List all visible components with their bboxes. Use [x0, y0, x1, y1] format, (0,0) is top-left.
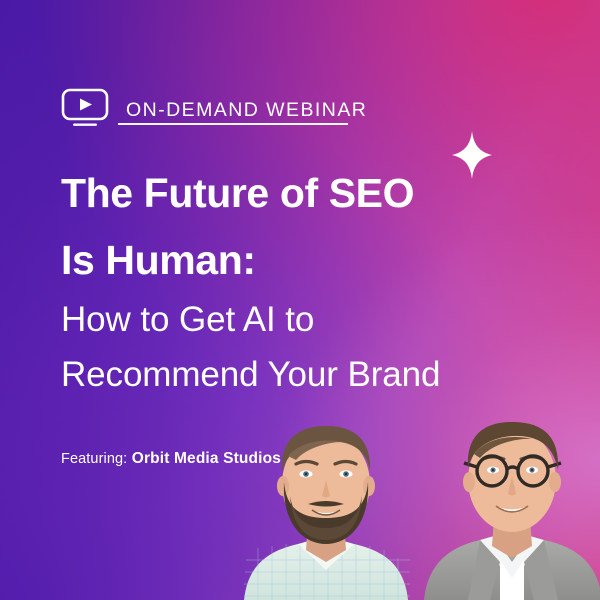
speaker-photos — [228, 410, 600, 600]
featuring-kicker: Featuring: — [61, 451, 127, 467]
headline-line-1: The Future of SEO — [61, 160, 531, 227]
eyebrow-label: ON-DEMAND WEBINAR — [126, 101, 367, 121]
subhead-line-1: How to Get AI to — [61, 292, 561, 347]
speaker-left — [244, 426, 410, 600]
page-subtitle: How to Get AI to Recommend Your Brand — [61, 292, 561, 402]
subhead-line-2: Recommend Your Brand — [61, 347, 561, 402]
eyebrow-underline — [118, 123, 348, 125]
webinar-promo-card: ON-DEMAND WEBINAR The Future of SEO Is H… — [0, 0, 600, 600]
webinar-screen-play-icon — [61, 88, 109, 133]
speaker-right — [424, 422, 600, 600]
page-title: The Future of SEO Is Human: — [61, 160, 531, 294]
eyebrow-row: ON-DEMAND WEBINAR — [61, 88, 367, 133]
headline-line-2: Is Human: — [61, 227, 531, 294]
